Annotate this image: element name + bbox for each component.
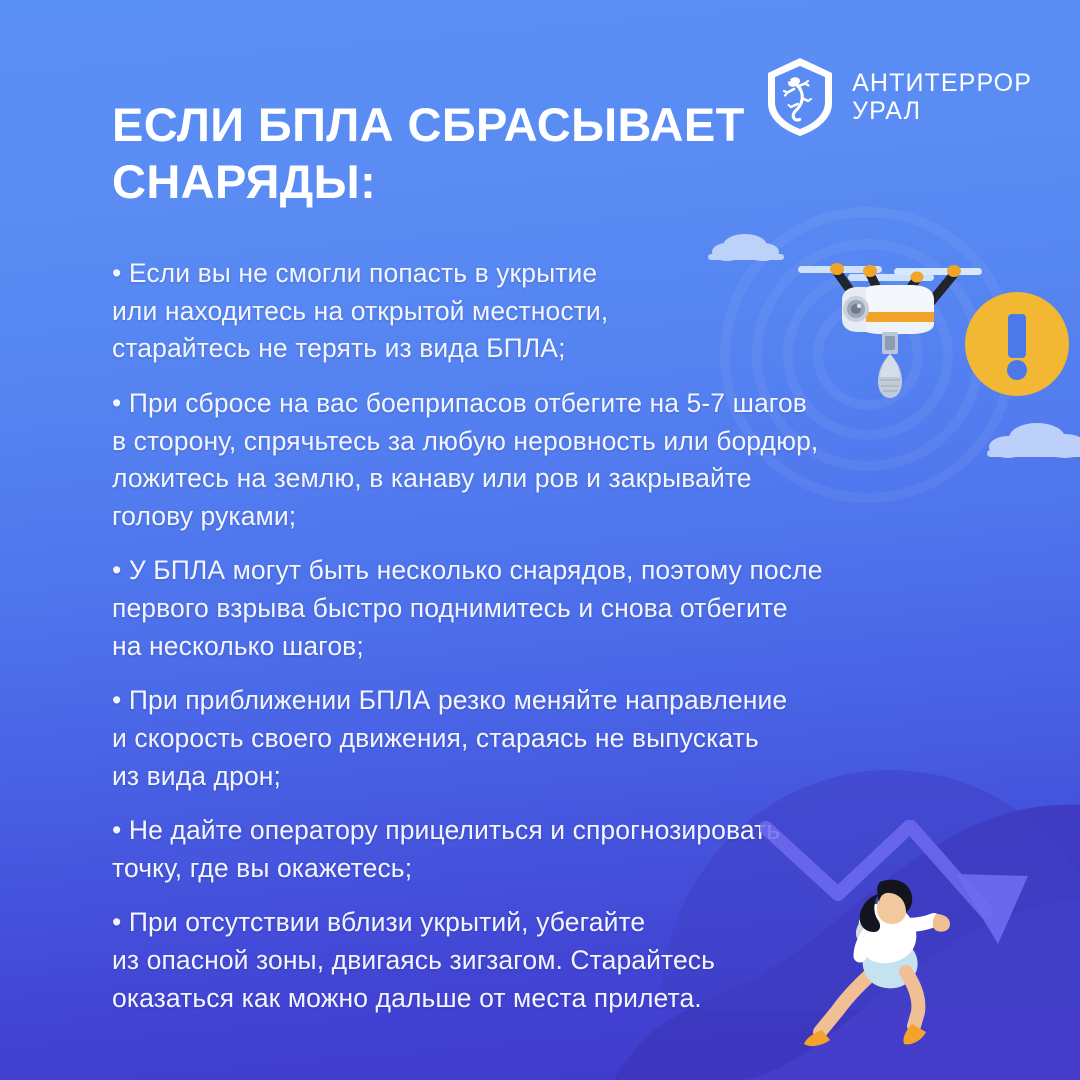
drone-illustration [790,238,990,413]
brand-logo-text: АНТИТЕРРОР УРАЛ [852,69,1032,125]
page-title: ЕСЛИ БПЛА СБРАСЫВАЕТ СНАРЯДЫ: [112,96,752,211]
runner-figure [804,880,950,1046]
shield-lizard-icon [764,56,836,138]
warning-badge [963,290,1071,398]
drone-body [842,285,934,334]
brand-logo-line1: АНТИТЕРРОР [852,69,1032,97]
list-item: • При приближении БПЛА резко меняйте нап… [112,682,952,795]
list-item: • У БПЛА могут быть несколько снарядов, … [112,552,952,665]
drone-release-clamp [882,332,898,354]
brand-logo[interactable]: АНТИТЕРРОР УРАЛ [764,56,1032,138]
brand-logo-line2: УРАЛ [852,97,1032,125]
infographic-poster: АНТИТЕРРОР УРАЛ ЕСЛИ БПЛА СБРАСЫВАЕТ СНА… [0,0,1080,1080]
running-woman-illustration [760,820,1080,1050]
falling-projectile-icon [878,354,902,398]
cloud-right-edge-icon [975,420,1080,460]
